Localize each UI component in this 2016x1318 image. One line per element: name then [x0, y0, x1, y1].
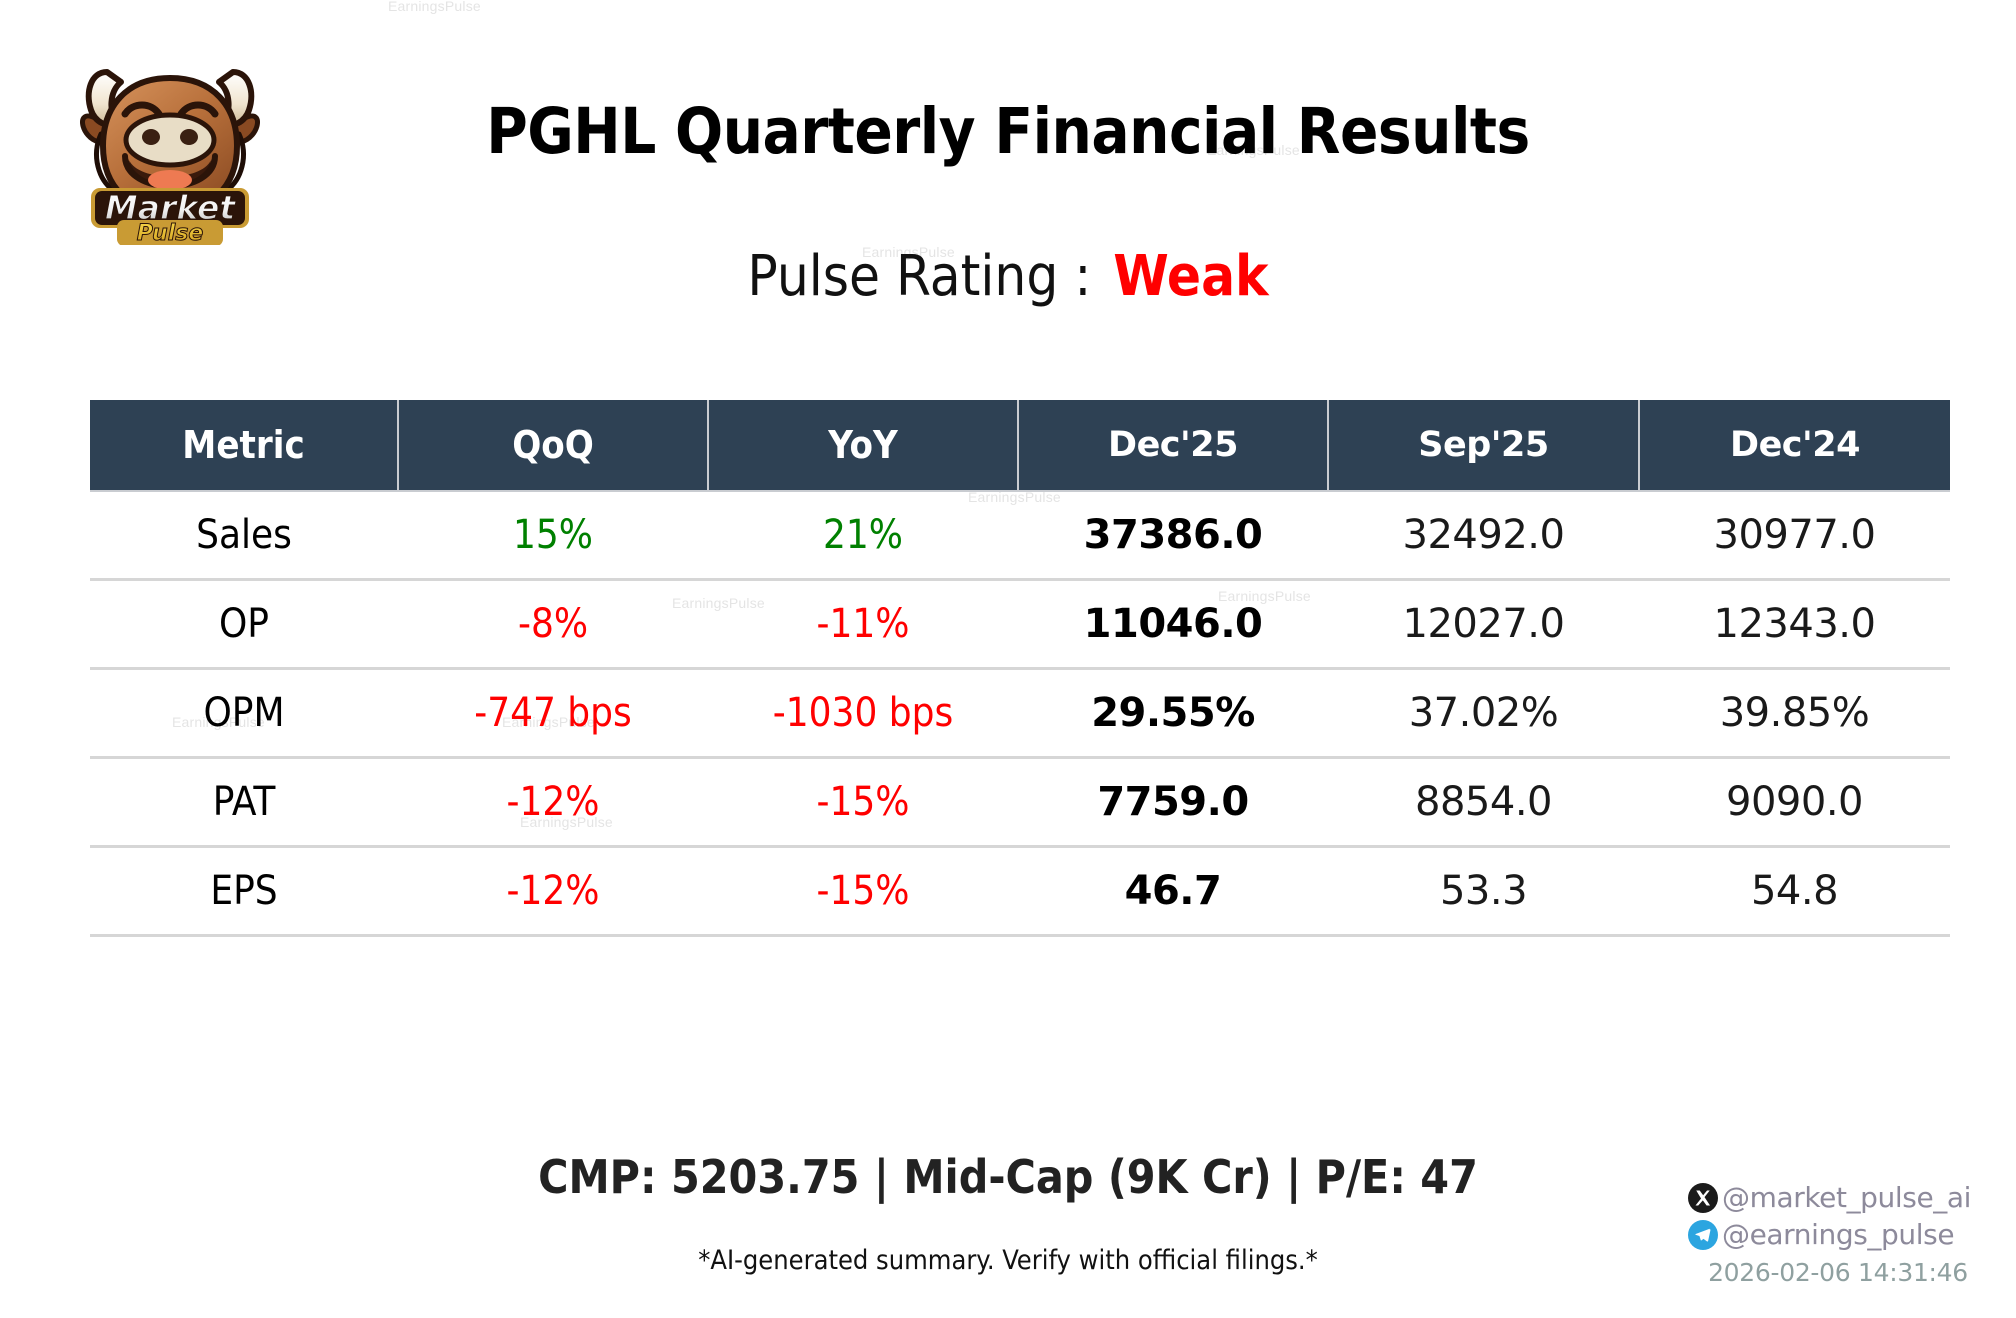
table-row: OP -8% -11% 11046.0 12027.0 12343.0 [90, 580, 1950, 669]
cell-dec25: 11046.0 [1018, 580, 1328, 669]
cell-metric: Sales [90, 491, 398, 580]
logo-word-pulse: Pulse [137, 221, 204, 245]
cell-sep25: 32492.0 [1328, 491, 1639, 580]
table-row: OPM -747 bps -1030 bps 29.55% 37.02% 39.… [90, 669, 1950, 758]
column-header-metric: Metric [90, 400, 398, 491]
cell-yoy: -1030 bps [708, 669, 1018, 758]
cell-qoq: -747 bps [398, 669, 708, 758]
cell-yoy: 21% [708, 491, 1018, 580]
financial-results-table: Metric QoQ YoY Dec'25 Sep'25 Dec'24 Sale… [90, 400, 1950, 937]
cell-metric: OP [90, 580, 398, 669]
cell-dec25: 37386.0 [1018, 491, 1328, 580]
cell-qoq: 15% [398, 491, 708, 580]
cell-dec25: 7759.0 [1018, 758, 1328, 847]
table-header-row: Metric QoQ YoY Dec'25 Sep'25 Dec'24 [90, 400, 1950, 491]
cell-sep25: 8854.0 [1328, 758, 1639, 847]
pulse-rating-line: Pulse Rating :Weak [0, 244, 2016, 309]
cell-dec25: 29.55% [1018, 669, 1328, 758]
column-header-sep25: Sep'25 [1328, 400, 1639, 491]
cell-qoq: -8% [398, 580, 708, 669]
cell-yoy: -11% [708, 580, 1018, 669]
watermark: EarningsPulse [388, 0, 481, 14]
cell-dec24: 12343.0 [1639, 580, 1950, 669]
generated-timestamp: 2026-02-06 14:31:46 [1688, 1258, 1988, 1287]
cell-sep25: 37.02% [1328, 669, 1639, 758]
table-row: Sales 15% 21% 37386.0 32492.0 30977.0 [90, 491, 1950, 580]
x-icon [1688, 1183, 1718, 1213]
cell-metric: PAT [90, 758, 398, 847]
cell-sep25: 53.3 [1328, 847, 1639, 936]
pulse-rating-label: Pulse Rating : [747, 244, 1091, 309]
table-row: PAT -12% -15% 7759.0 8854.0 9090.0 [90, 758, 1950, 847]
cell-dec24: 54.8 [1639, 847, 1950, 936]
cell-yoy: -15% [708, 847, 1018, 936]
cell-qoq: -12% [398, 758, 708, 847]
table-row: EPS -12% -15% 46.7 53.3 54.8 [90, 847, 1950, 936]
column-header-dec25: Dec'25 [1018, 400, 1328, 491]
telegram-icon [1688, 1220, 1718, 1250]
column-header-yoy: YoY [708, 400, 1018, 491]
cell-sep25: 12027.0 [1328, 580, 1639, 669]
cell-yoy: -15% [708, 758, 1018, 847]
telegram-handle-label: @earnings_pulse [1722, 1218, 1954, 1251]
x-handle-label: @market_pulse_ai [1722, 1181, 1971, 1214]
cell-dec24: 30977.0 [1639, 491, 1950, 580]
page-title: PGHL Quarterly Financial Results [0, 95, 2016, 168]
cell-dec24: 9090.0 [1639, 758, 1950, 847]
cell-qoq: -12% [398, 847, 708, 936]
cell-dec25: 46.7 [1018, 847, 1328, 936]
pulse-rating-value: Weak [1113, 244, 1268, 309]
cell-metric: OPM [90, 669, 398, 758]
column-header-qoq: QoQ [398, 400, 708, 491]
social-handles: @market_pulse_ai @earnings_pulse [1688, 1180, 1988, 1254]
social-row-telegram[interactable]: @earnings_pulse [1688, 1217, 1988, 1252]
column-header-dec24: Dec'24 [1639, 400, 1950, 491]
cell-dec24: 39.85% [1639, 669, 1950, 758]
social-row-x[interactable]: @market_pulse_ai [1688, 1180, 1988, 1215]
cell-metric: EPS [90, 847, 398, 936]
